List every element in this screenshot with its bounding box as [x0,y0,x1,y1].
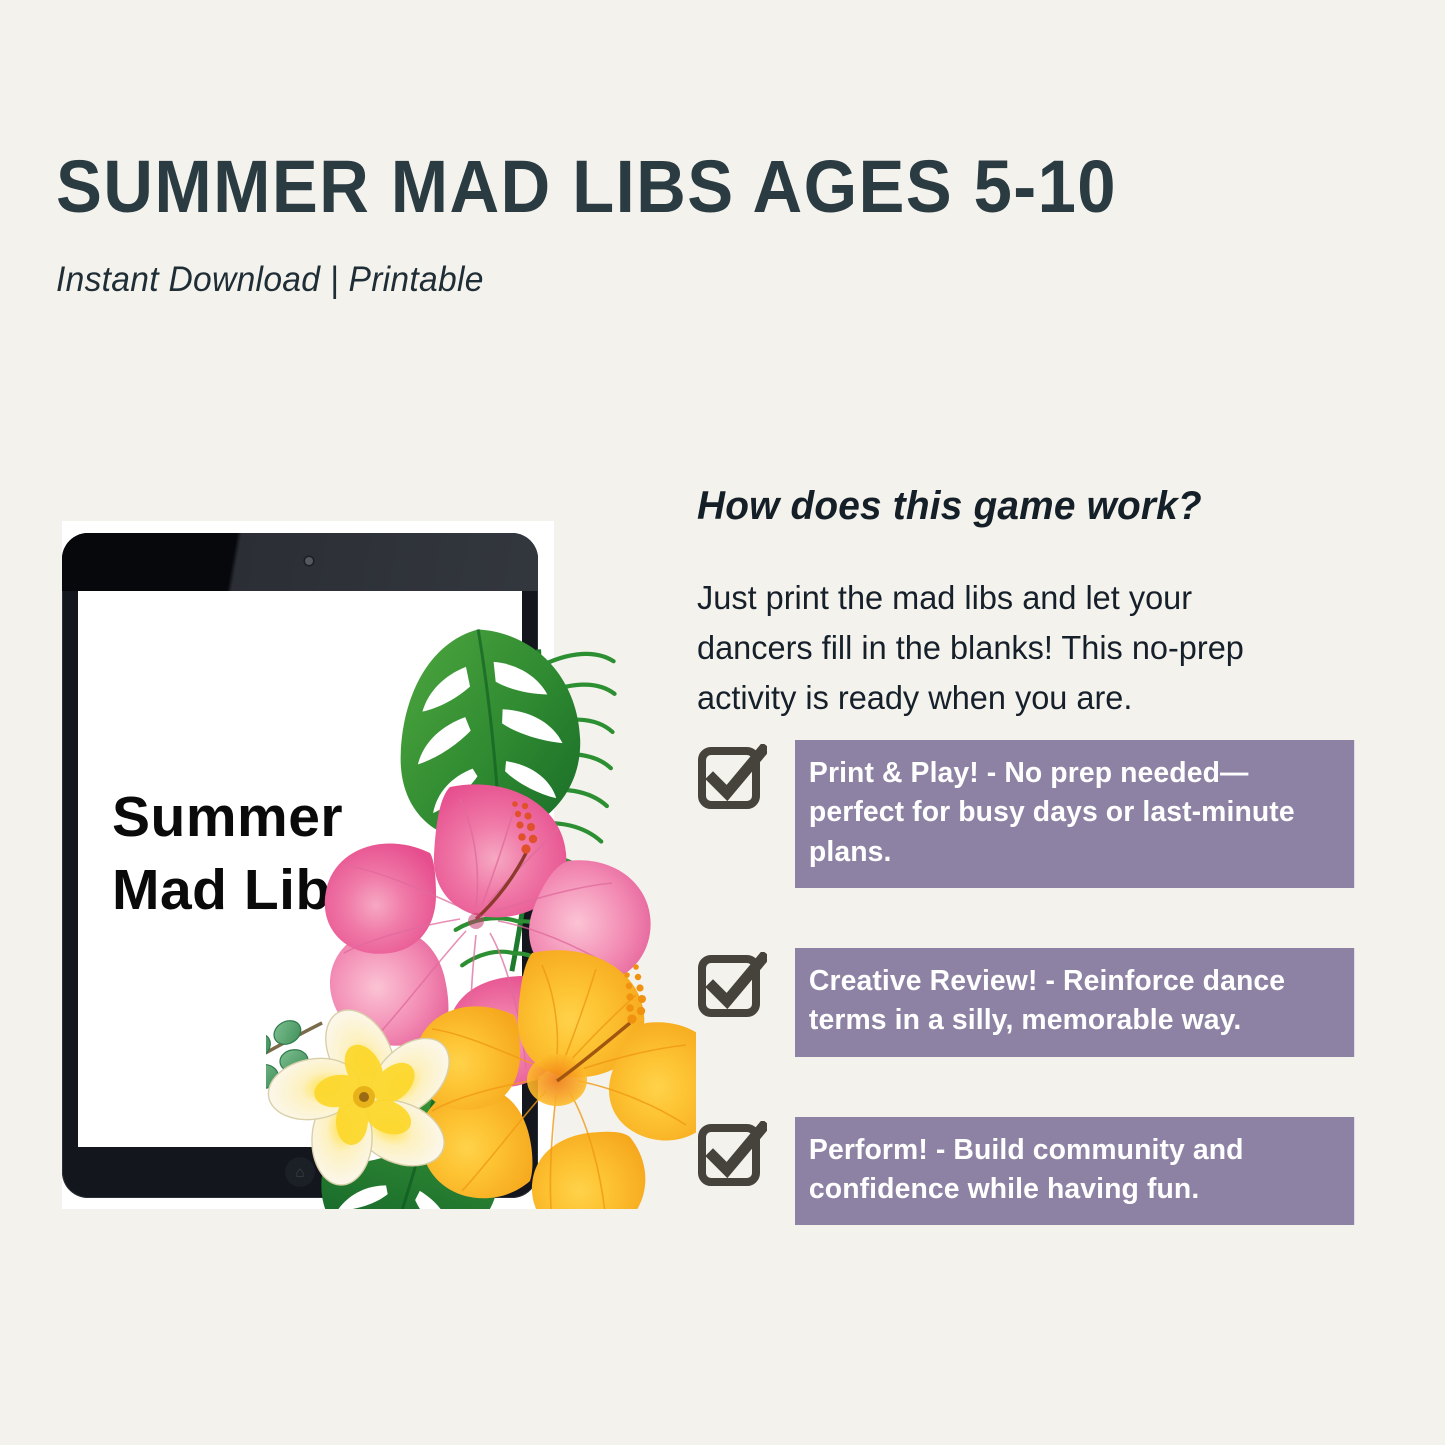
eucalyptus-branch [266,1009,347,1174]
page-subtitle: Instant Download | Printable [56,224,1208,300]
monstera-leaf-bottom [305,1040,527,1209]
checkbox-checked-icon [697,1121,767,1191]
tablet-screen: Summer Mad Libs [78,591,522,1147]
benefit-text: Creative Review! - Reinforce dance terms… [795,948,1354,1057]
monstera-leaf-top [387,620,589,848]
pink-hibiscus [325,784,651,1087]
benefit-text: Perform! - Build community and confidenc… [795,1117,1354,1226]
yellow-hibiscus [415,950,696,1209]
benefits-list: Print & Play! - No prep needed—perfect f… [697,740,1357,1285]
list-item: Perform! - Build community and confidenc… [697,1117,1357,1226]
page-title: SUMMER MAD LIBS AGES 5-10 [56,150,1172,224]
product-listing-graphic: SUMMER MAD LIBS AGES 5-10 Instant Downlo… [0,0,1445,1445]
header: SUMMER MAD LIBS AGES 5-10 Instant Downlo… [56,150,1256,300]
home-icon: ⌂ [285,1157,315,1187]
tablet-mockup: Summer Mad Libs [62,521,554,1209]
checkbox-checked-icon [697,744,767,814]
bezel-sheen [62,533,538,591]
benefit-text: Print & Play! - No prep needed—perfect f… [795,740,1354,888]
list-item: Print & Play! - No prep needed—perfect f… [697,740,1357,888]
checkbox-checked-icon [697,952,767,1022]
section-body: Just print the mad libs and let your dan… [697,529,1313,723]
camera-icon [305,557,313,565]
tablet-frame: Summer Mad Libs [62,533,538,1198]
palm-frond [415,634,630,984]
cover-title: Summer Mad Libs [112,781,363,927]
how-it-works-section: How does this game work? Just print the … [697,484,1347,723]
section-heading: How does this game work? [697,484,1328,529]
list-item: Creative Review! - Reinforce dance terms… [697,948,1357,1057]
